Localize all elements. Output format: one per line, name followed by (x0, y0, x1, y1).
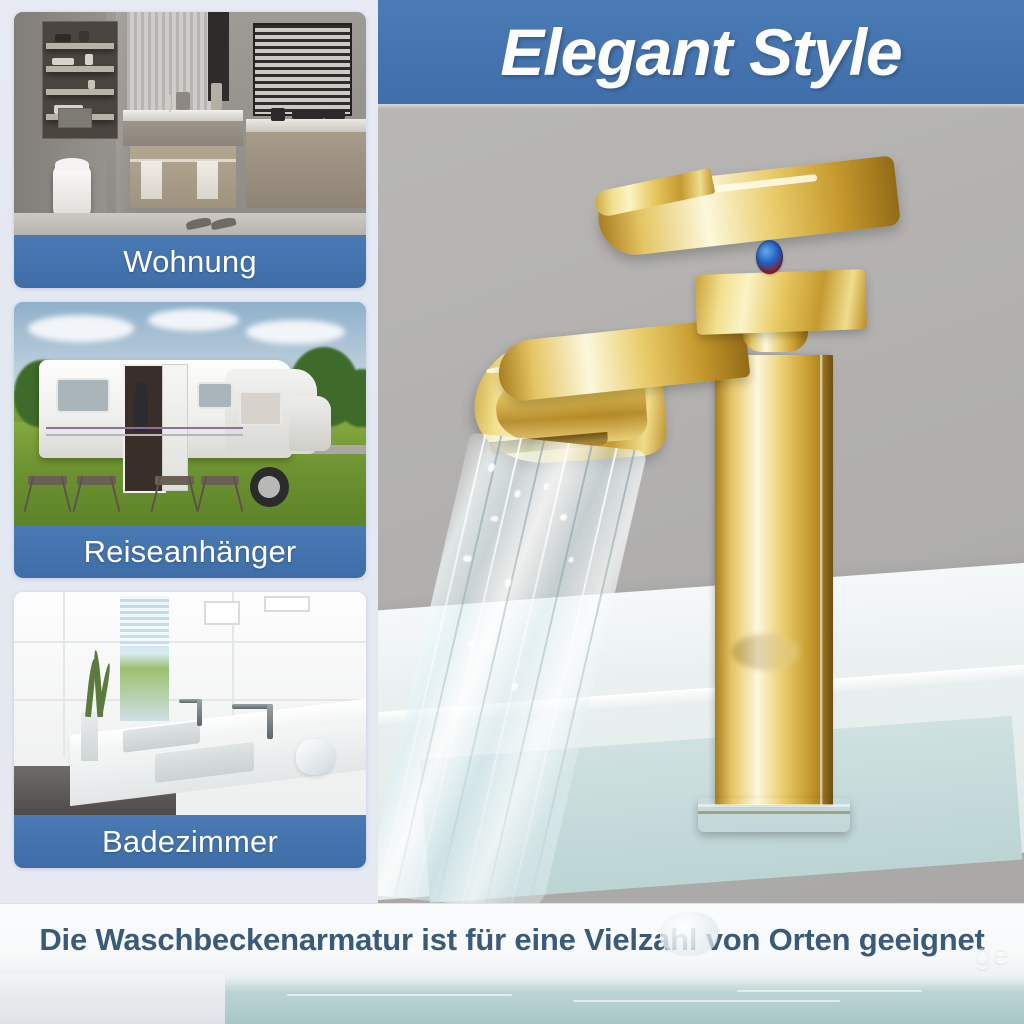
counter-object (292, 110, 324, 119)
water-streak (394, 436, 503, 898)
caravan-window (197, 382, 233, 408)
vanity-body (123, 121, 243, 146)
vanity-faucet (169, 95, 171, 113)
handle-housing (695, 269, 867, 335)
product-hero-panel: Elegant Style (378, 0, 1024, 903)
water-streak (461, 443, 570, 903)
caravan-window (239, 391, 282, 426)
body-reflection (732, 634, 800, 670)
footer-caption: Die Waschbeckenarmatur ist für eine Viel… (39, 922, 984, 958)
water-bubble (514, 489, 522, 497)
water-bubble (511, 683, 519, 691)
shelf-object (55, 34, 71, 42)
camping-chair (201, 476, 240, 512)
person (134, 382, 148, 431)
wheel (250, 467, 289, 507)
product-marketing-poster: Wohnung (0, 0, 1024, 1024)
water-stream (378, 433, 648, 903)
wall-niche (58, 108, 92, 128)
use-case-caption-band: Reiseanhänger (14, 525, 366, 578)
faucet-body (715, 355, 833, 805)
wall-vent (264, 596, 310, 611)
faucet-base-plate (698, 798, 850, 832)
camping-chair (28, 476, 67, 512)
curtain (127, 12, 219, 110)
bottom-glass-strip (0, 975, 1024, 1024)
water-bubble (559, 513, 568, 521)
counter-object (324, 110, 345, 119)
vanity-countertop (123, 110, 243, 121)
camping-chair (77, 476, 116, 512)
use-case-caption-band: Badezimmer (14, 815, 366, 868)
use-case-label: Reiseanhänger (84, 534, 297, 570)
plant-pot (81, 712, 99, 761)
right-cabinet (246, 132, 366, 208)
caravan-window (56, 378, 109, 413)
use-case-label: Badezimmer (102, 824, 278, 860)
use-case-label: Wohnung (123, 244, 257, 280)
bathroom-photo (14, 592, 366, 815)
caravan-photo (14, 302, 366, 525)
camping-chair (155, 476, 194, 512)
cloud (148, 309, 240, 331)
water-ripple (737, 990, 921, 992)
shelf (46, 89, 114, 95)
counter-object (271, 108, 285, 121)
chrome-faucet (232, 704, 271, 709)
water-bubble (543, 483, 550, 490)
watermark: ge (975, 938, 1010, 972)
towel (197, 161, 218, 199)
use-case-card-wohnung[interactable]: Wohnung (14, 12, 366, 288)
use-case-card-badezimmer[interactable]: Badezimmer (14, 592, 366, 868)
water-bubble (490, 515, 499, 522)
body-shadow-edge (822, 355, 833, 805)
water-bubble (467, 640, 475, 647)
water-streak (484, 445, 593, 903)
shelf-object (88, 80, 95, 89)
use-case-card-reiseanhaenger[interactable]: Reiseanhänger (14, 302, 366, 578)
shelf-object (85, 54, 94, 64)
chrome-faucet (197, 699, 202, 726)
window-blinds (253, 23, 352, 116)
water-bubble (567, 556, 573, 562)
shelf-object (79, 31, 89, 41)
vanity-accessory (176, 92, 190, 110)
use-case-caption-band: Wohnung (14, 235, 366, 288)
window-blinds (120, 596, 169, 645)
use-case-sidebar: Wohnung (0, 0, 378, 903)
faucet-assembly (378, 0, 1024, 903)
water-ripple (287, 994, 512, 996)
apartment-bathroom-photo (14, 12, 366, 235)
cloud (246, 320, 345, 345)
towel (141, 161, 162, 199)
cloud (28, 315, 134, 342)
footer-caption-bar: Die Waschbeckenarmatur ist für eine Viel… (0, 903, 1024, 976)
water-streak (527, 450, 636, 903)
chrome-faucet (267, 704, 273, 740)
soap-dispenser (296, 739, 335, 775)
body-stripe (46, 427, 243, 429)
shelf (46, 43, 114, 49)
shelf-object (52, 58, 74, 65)
right-counter (246, 119, 366, 132)
vanity-vase (211, 83, 222, 110)
wall-vent (204, 601, 240, 625)
hot-cold-indicator-icon (756, 240, 783, 274)
caravan-nose (289, 396, 331, 452)
shelf (46, 66, 114, 72)
water-streak (378, 434, 487, 896)
tile-grout (14, 641, 366, 643)
tile-grout (63, 592, 65, 757)
body-stripe (46, 434, 243, 436)
soap-bubble-decoration (660, 912, 718, 956)
